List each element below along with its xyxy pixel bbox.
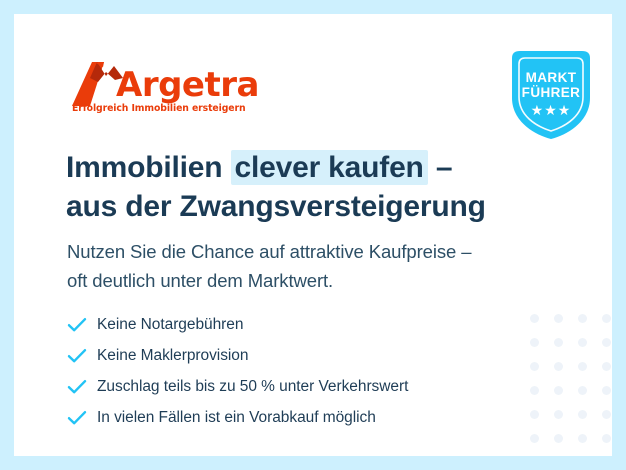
benefit-item-label: Zuschlag teils bis zu 50 % unter Verkehr… [97, 378, 408, 396]
headline-line2: aus der Zwangsversteigerung [66, 187, 536, 226]
dot [578, 314, 587, 323]
benefit-item: Keine Notargebühren [67, 310, 537, 340]
dot [578, 362, 587, 371]
dot [602, 386, 611, 395]
dot [578, 434, 587, 443]
market-leader-badge: MARKT FÜHRER ★★★ [504, 46, 598, 144]
benefits-list: Keine NotargebührenKeine Maklerprovision… [67, 310, 537, 434]
badge-stars: ★★★ [504, 102, 598, 119]
dot [602, 362, 611, 371]
benefit-item: Zuschlag teils bis zu 50 % unter Verkehr… [67, 372, 537, 402]
check-icon [67, 379, 97, 395]
dot [554, 434, 563, 443]
dot [578, 338, 587, 347]
benefit-item-label: Keine Notargebühren [97, 316, 243, 334]
badge-line-markt: MARKT [504, 70, 598, 85]
dot [578, 386, 587, 395]
dot-grid-decoration [530, 314, 612, 456]
dot [554, 314, 563, 323]
dot [578, 410, 587, 419]
benefit-item-label: Keine Maklerprovision [97, 347, 248, 365]
subheading: Nutzen Sie die Chance auf attraktive Kau… [67, 238, 557, 295]
page-title: Immobilien clever kaufen – aus der Zwang… [66, 148, 536, 226]
logo-wordmark: Argetra [116, 68, 259, 102]
subheading-line1: Nutzen Sie die Chance auf attraktive Kau… [67, 238, 557, 267]
headline-line1-suffix: – [428, 151, 453, 184]
subheading-line2: oft deutlich unter dem Marktwert. [67, 267, 557, 296]
benefit-item: Keine Maklerprovision [67, 341, 537, 371]
headline-highlight: clever kaufen [231, 150, 428, 185]
dot [554, 410, 563, 419]
promo-card: Argetra Erfolgreich Immobilien ersteiger… [14, 14, 612, 456]
dot [554, 338, 563, 347]
dot [554, 386, 563, 395]
benefit-item: In vielen Fällen ist ein Vorabkauf mögli… [67, 403, 537, 433]
check-icon [67, 348, 97, 364]
badge-line-fuehrer: FÜHRER [504, 85, 598, 100]
dot [602, 314, 611, 323]
benefit-item-label: In vielen Fällen ist ein Vorabkauf mögli… [97, 409, 376, 427]
check-icon [67, 410, 97, 426]
logo-tagline: Erfolgreich Immobilien ersteigern [72, 103, 245, 114]
page-frame: Argetra Erfolgreich Immobilien ersteiger… [0, 0, 626, 470]
dot [530, 434, 539, 443]
dot [602, 434, 611, 443]
check-icon [67, 317, 97, 333]
argetra-logo[interactable]: Argetra Erfolgreich Immobilien ersteiger… [70, 58, 270, 120]
dot [602, 338, 611, 347]
dot [554, 362, 563, 371]
dot [602, 410, 611, 419]
headline-line1-prefix: Immobilien [66, 151, 231, 184]
